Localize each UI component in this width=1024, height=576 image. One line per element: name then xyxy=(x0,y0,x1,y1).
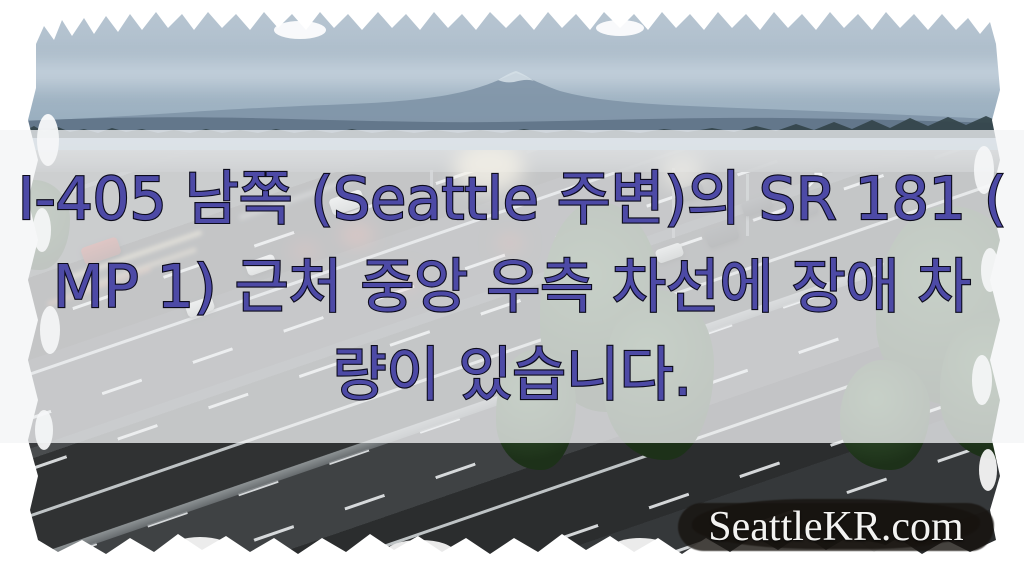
site-watermark: SeattleKR.com xyxy=(678,503,994,551)
caption-text-block: I-405 남쪽 (Seattle 주변)의 SR 181 ( MP 1) 근처… xyxy=(0,132,1024,442)
caption-line-1: I-405 남쪽 (Seattle 주변)의 SR 181 ( xyxy=(18,155,1007,243)
watermark-label: SeattleKR.com xyxy=(678,503,994,551)
caption-line-3: 량이 있습니다. xyxy=(332,331,691,419)
caption-line-2: MP 1) 근처 중앙 우측 차선에 장애 차 xyxy=(53,243,971,331)
traffic-alert-graphic: ↗ xyxy=(0,0,1024,576)
